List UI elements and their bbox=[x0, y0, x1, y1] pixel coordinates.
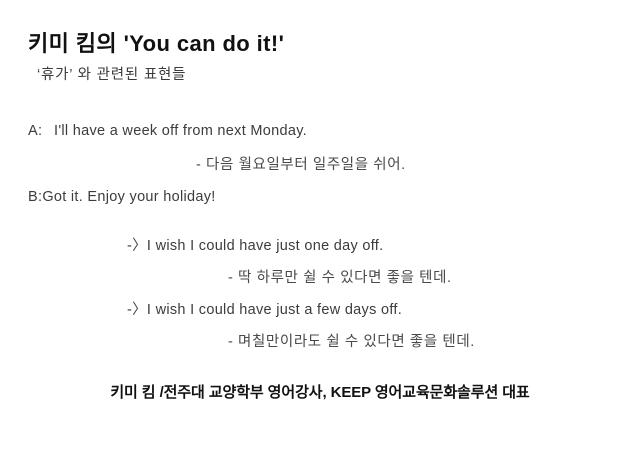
slide-canvas: 키미 킴의 'You can do it!' ‘휴가’ 와 관련된 표현들 A:… bbox=[0, 0, 640, 453]
dialogue-line-a: A:I'll have a week off from next Monday. bbox=[28, 122, 640, 140]
dialogue-block: A:I'll have a week off from next Monday.… bbox=[0, 122, 640, 206]
page-title: 키미 킴의 'You can do it!' bbox=[28, 26, 284, 58]
example-translation-2: - 며칠만이라도 쉴 수 있다면 좋을 텐데. bbox=[228, 333, 640, 351]
example-sentence-1: -〉I wish I could have just one day off. bbox=[127, 237, 640, 255]
example-translation-1: - 딱 하루만 쉴 수 있다면 좋을 텐데. bbox=[228, 269, 640, 287]
author-byline: 키미 킴 /전주대 교양학부 영어강사, KEEP 영어교육문화솔루션 대표 bbox=[0, 381, 640, 402]
dialogue-translation-a: - 다음 월요일부터 일주일을 쉬어. bbox=[196, 156, 640, 174]
speaker-label-b: B: bbox=[28, 189, 42, 205]
page-subtitle: ‘휴가’ 와 관련된 표현들 bbox=[37, 63, 186, 84]
dialogue-text-a: I'll have a week off from next Monday. bbox=[54, 123, 307, 139]
dialogue-text-b: Got it. Enjoy your holiday! bbox=[42, 189, 215, 205]
speaker-label-a: A: bbox=[28, 122, 54, 140]
examples-block: -〉I wish I could have just one day off. … bbox=[0, 237, 640, 351]
example-sentence-2: -〉I wish I could have just a few days of… bbox=[127, 301, 640, 319]
dialogue-line-b: B:Got it. Enjoy your holiday! bbox=[28, 188, 640, 206]
